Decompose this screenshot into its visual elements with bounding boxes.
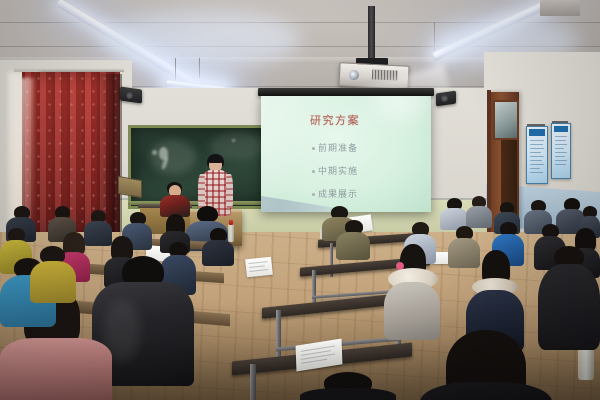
- presenter-arm-right: [226, 174, 233, 208]
- screen-housing: [258, 88, 434, 96]
- door-window: [493, 100, 519, 140]
- audience-member: [202, 228, 234, 264]
- audience-member: [440, 198, 468, 228]
- presenter-arm-left: [198, 174, 205, 208]
- audience-member: [466, 196, 492, 226]
- classroom-scene: 研究方案 前期准备 中期实施 成果展示: [0, 0, 600, 400]
- projector-lens: [349, 70, 359, 80]
- audience-member-fur-coat: [384, 244, 440, 336]
- audience-member: [336, 220, 370, 258]
- projector-pole: [368, 6, 375, 60]
- audience-member: [30, 246, 76, 300]
- paper-sheet: [245, 257, 273, 278]
- foreground-vignette: [0, 340, 600, 400]
- wall-poster-right[interactable]: [551, 123, 571, 179]
- presenter-bangs: [208, 157, 223, 163]
- wall-poster-left[interactable]: [526, 126, 548, 184]
- projector-screen: 研究方案 前期准备 中期实施 成果展示: [261, 96, 431, 212]
